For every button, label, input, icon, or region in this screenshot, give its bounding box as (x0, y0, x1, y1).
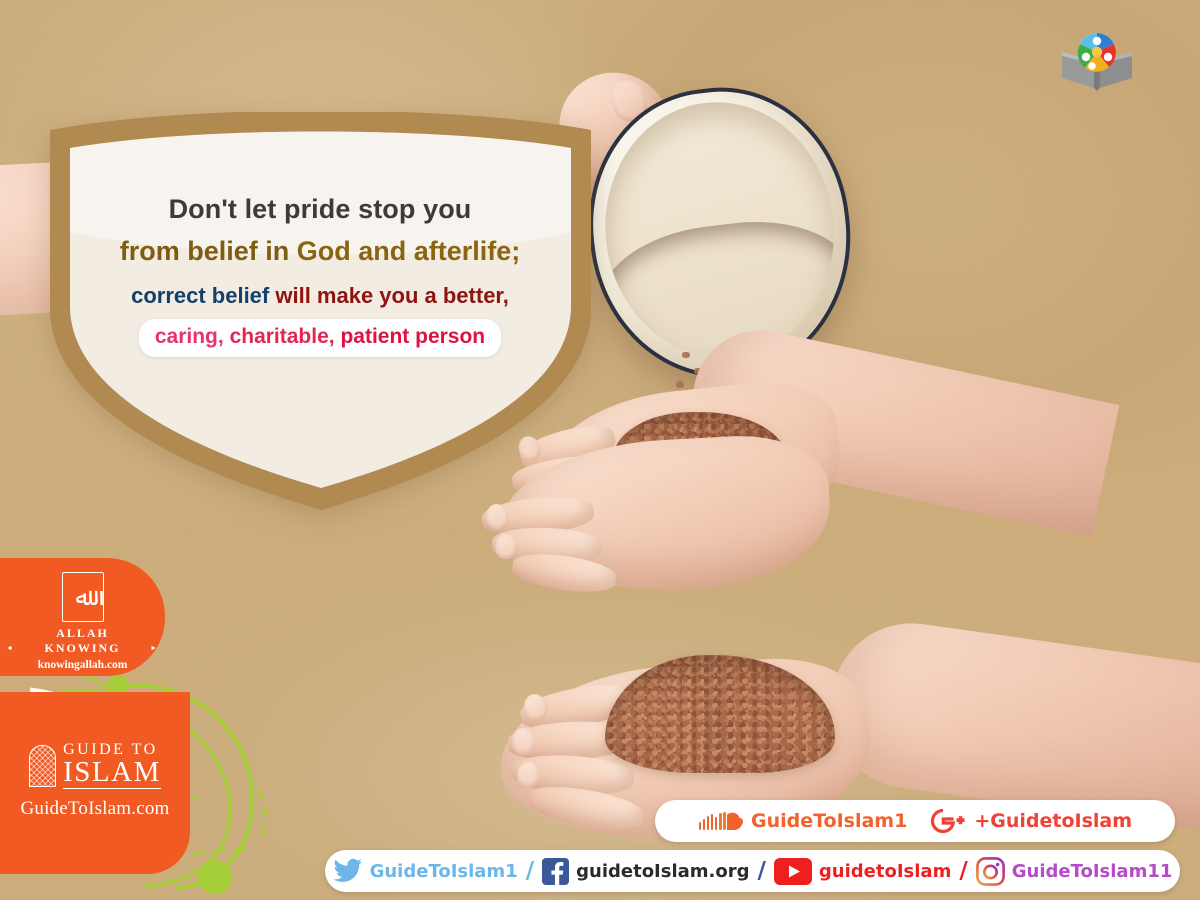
globe-figure-head-bottom (1088, 62, 1096, 70)
youtube-item[interactable]: guidetoIslam (768, 858, 957, 885)
soundcloud-icon (698, 809, 744, 833)
instagram-icon (976, 857, 1005, 886)
quote-line-4-part-b: charitable, (230, 325, 341, 348)
guide-to-islam-logo-panel[interactable]: GUIDE TO ISLAM GuideToIslam.com (0, 692, 190, 874)
twitter-icon (333, 858, 363, 884)
soundcloud-label: GuideToIslam1 (751, 810, 907, 832)
separator-1: / (524, 858, 536, 884)
guide-to-islam-url[interactable]: GuideToIslam.com (0, 798, 190, 820)
bowl-inner (591, 89, 848, 371)
quote-line-1: Don't let pride stop you (60, 190, 580, 228)
twitter-item[interactable]: GuideToIslam1 (327, 858, 524, 884)
poster-canvas: Don't let pride stop you from belief in … (0, 0, 1200, 900)
facebook-label: guidetoIslam.org (576, 861, 749, 882)
mosque-arch-icon (29, 745, 56, 787)
allah-glyph: ﷲ (75, 585, 89, 609)
youtube-icon (774, 858, 812, 885)
globe-figure-head-top (1093, 37, 1101, 45)
quote-line-3-part-a: correct belief (131, 283, 275, 308)
falling-grain (682, 352, 690, 358)
quote-text-block: Don't let pride stop you from belief in … (60, 190, 580, 357)
guide-to-islam-inner: GUIDE TO ISLAM GuideToIslam.com (0, 742, 190, 820)
falling-grain (676, 381, 684, 388)
bottom-social-bar: GuideToIslam1 / guidetoIslam.org / guide… (325, 850, 1180, 892)
top-social-bar: GuideToIslam1 +GuidetoIslam (655, 800, 1175, 842)
quote-line-2-part-b: God and afterlife; (297, 236, 521, 266)
knowing-allah-url[interactable]: knowingallah.com (0, 659, 165, 671)
separator-3: / (957, 858, 969, 884)
quote-line-2-part-a: from belief in (120, 236, 297, 266)
quote-line-3: correct belief will make you a better, (60, 280, 580, 311)
quote-line-2: from belief in God and afterlife; (60, 232, 580, 270)
swirl-micro-dot (194, 796, 199, 801)
globe-figure-head-right (1104, 53, 1112, 61)
quote-line-4-wrapper: caring, charitable, patient person (139, 319, 501, 357)
instagram-item[interactable]: GuideToIslam11 (970, 857, 1179, 886)
knowing-allah-logo-panel[interactable]: ﷲ ALLAH KNOWING knowingallah.com (0, 558, 165, 676)
quote-line-3-part-b: will make you a better, (275, 283, 509, 308)
instagram-label: GuideToIslam11 (1012, 861, 1173, 882)
guide-to-islam-word2: ISLAM (63, 758, 161, 789)
googleplus-item[interactable]: +GuidetoIslam (925, 808, 1138, 834)
knowing-allah-name-line2: KNOWING (0, 641, 165, 656)
allah-calligraphy-icon: ﷲ (62, 572, 104, 622)
facebook-item[interactable]: guidetoIslam.org (536, 858, 755, 885)
youtube-label: guidetoIslam (819, 861, 951, 882)
googleplus-label: +GuidetoIslam (974, 810, 1132, 832)
soundcloud-item[interactable]: GuideToIslam1 (692, 809, 913, 833)
facebook-icon (542, 858, 569, 885)
guide-to-islam-wordmark: GUIDE TO ISLAM (63, 742, 161, 789)
globe-center (1092, 47, 1102, 57)
knowing-allah-name-line1: ALLAH (0, 626, 165, 641)
quote-line-4-part-c: patient person (340, 325, 485, 348)
book-globe-logo[interactable] (1058, 30, 1136, 92)
swirl-dash-right (258, 790, 265, 838)
middle-fingernail-3 (495, 534, 516, 559)
guide-to-islam-row: GUIDE TO ISLAM (0, 742, 190, 789)
twitter-label: GuideToIslam1 (370, 861, 518, 882)
knowing-allah-inner: ﷲ ALLAH KNOWING knowingallah.com (0, 572, 165, 671)
globe-figure-head-left (1082, 53, 1090, 61)
googleplus-icon (931, 808, 965, 834)
quote-line-4-highlight: caring, charitable, patient person (139, 319, 501, 357)
quote-line-4-part-a: caring, (155, 325, 230, 348)
separator-2: / (756, 858, 768, 884)
